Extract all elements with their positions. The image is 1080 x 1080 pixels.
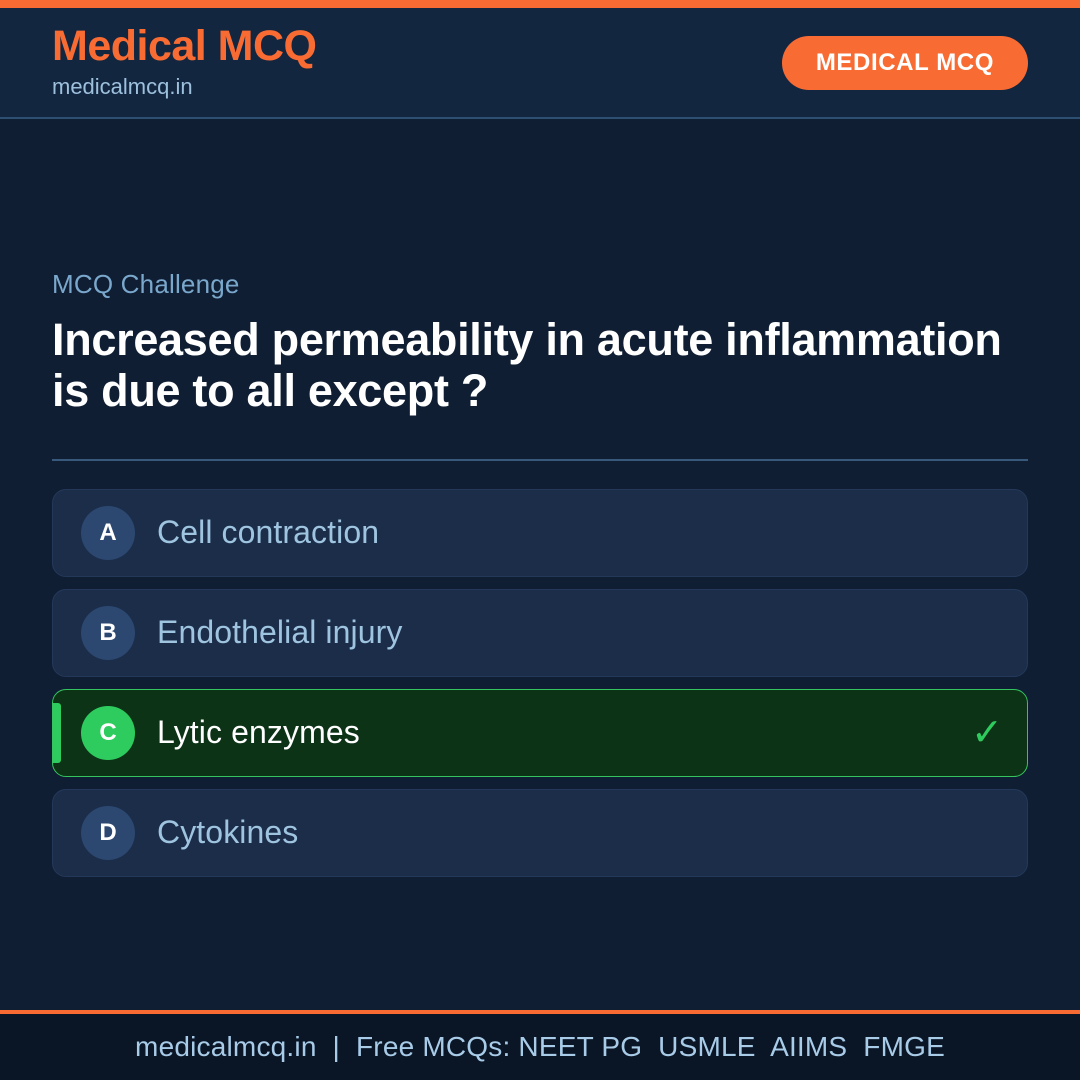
options-list: A Cell contraction B Endothelial injury … [52, 489, 1028, 877]
footer-text: medicalmcq.in | Free MCQs: NEET PG USMLE… [135, 1031, 945, 1063]
option-b[interactable]: B Endothelial injury [52, 589, 1028, 677]
option-letter-badge: D [81, 806, 135, 860]
option-a[interactable]: A Cell contraction [52, 489, 1028, 577]
page-header: Medical MCQ medicalmcq.in MEDICAL MCQ [0, 8, 1080, 119]
mcq-card: Medical MCQ medicalmcq.in MEDICAL MCQ MC… [0, 0, 1080, 1080]
option-d[interactable]: D Cytokines [52, 789, 1028, 877]
option-label: Lytic enzymes [157, 714, 959, 751]
option-label: Endothelial injury [157, 614, 991, 651]
page-footer: medicalmcq.in | Free MCQs: NEET PG USMLE… [0, 1010, 1080, 1080]
option-letter-badge: B [81, 606, 135, 660]
question-divider [52, 459, 1028, 461]
header-badge: MEDICAL MCQ [782, 36, 1028, 90]
option-label: Cell contraction [157, 514, 991, 551]
top-accent-bar [0, 0, 1080, 8]
question-text: Increased permeability in acute inflamma… [52, 314, 1012, 417]
brand: Medical MCQ medicalmcq.in [52, 23, 317, 101]
main-content: MCQ Challenge Increased permeability in … [0, 119, 1080, 1010]
option-letter-badge: A [81, 506, 135, 560]
option-label: Cytokines [157, 814, 991, 851]
option-c[interactable]: C Lytic enzymes ✓ [52, 689, 1028, 777]
correct-accent-bar [53, 703, 61, 763]
check-icon: ✓ [971, 714, 1003, 752]
question-block: MCQ Challenge Increased permeability in … [52, 269, 1028, 417]
question-kicker: MCQ Challenge [52, 269, 1028, 300]
option-letter-badge: C [81, 706, 135, 760]
brand-website: medicalmcq.in [52, 72, 317, 102]
brand-title: Medical MCQ [52, 23, 317, 69]
